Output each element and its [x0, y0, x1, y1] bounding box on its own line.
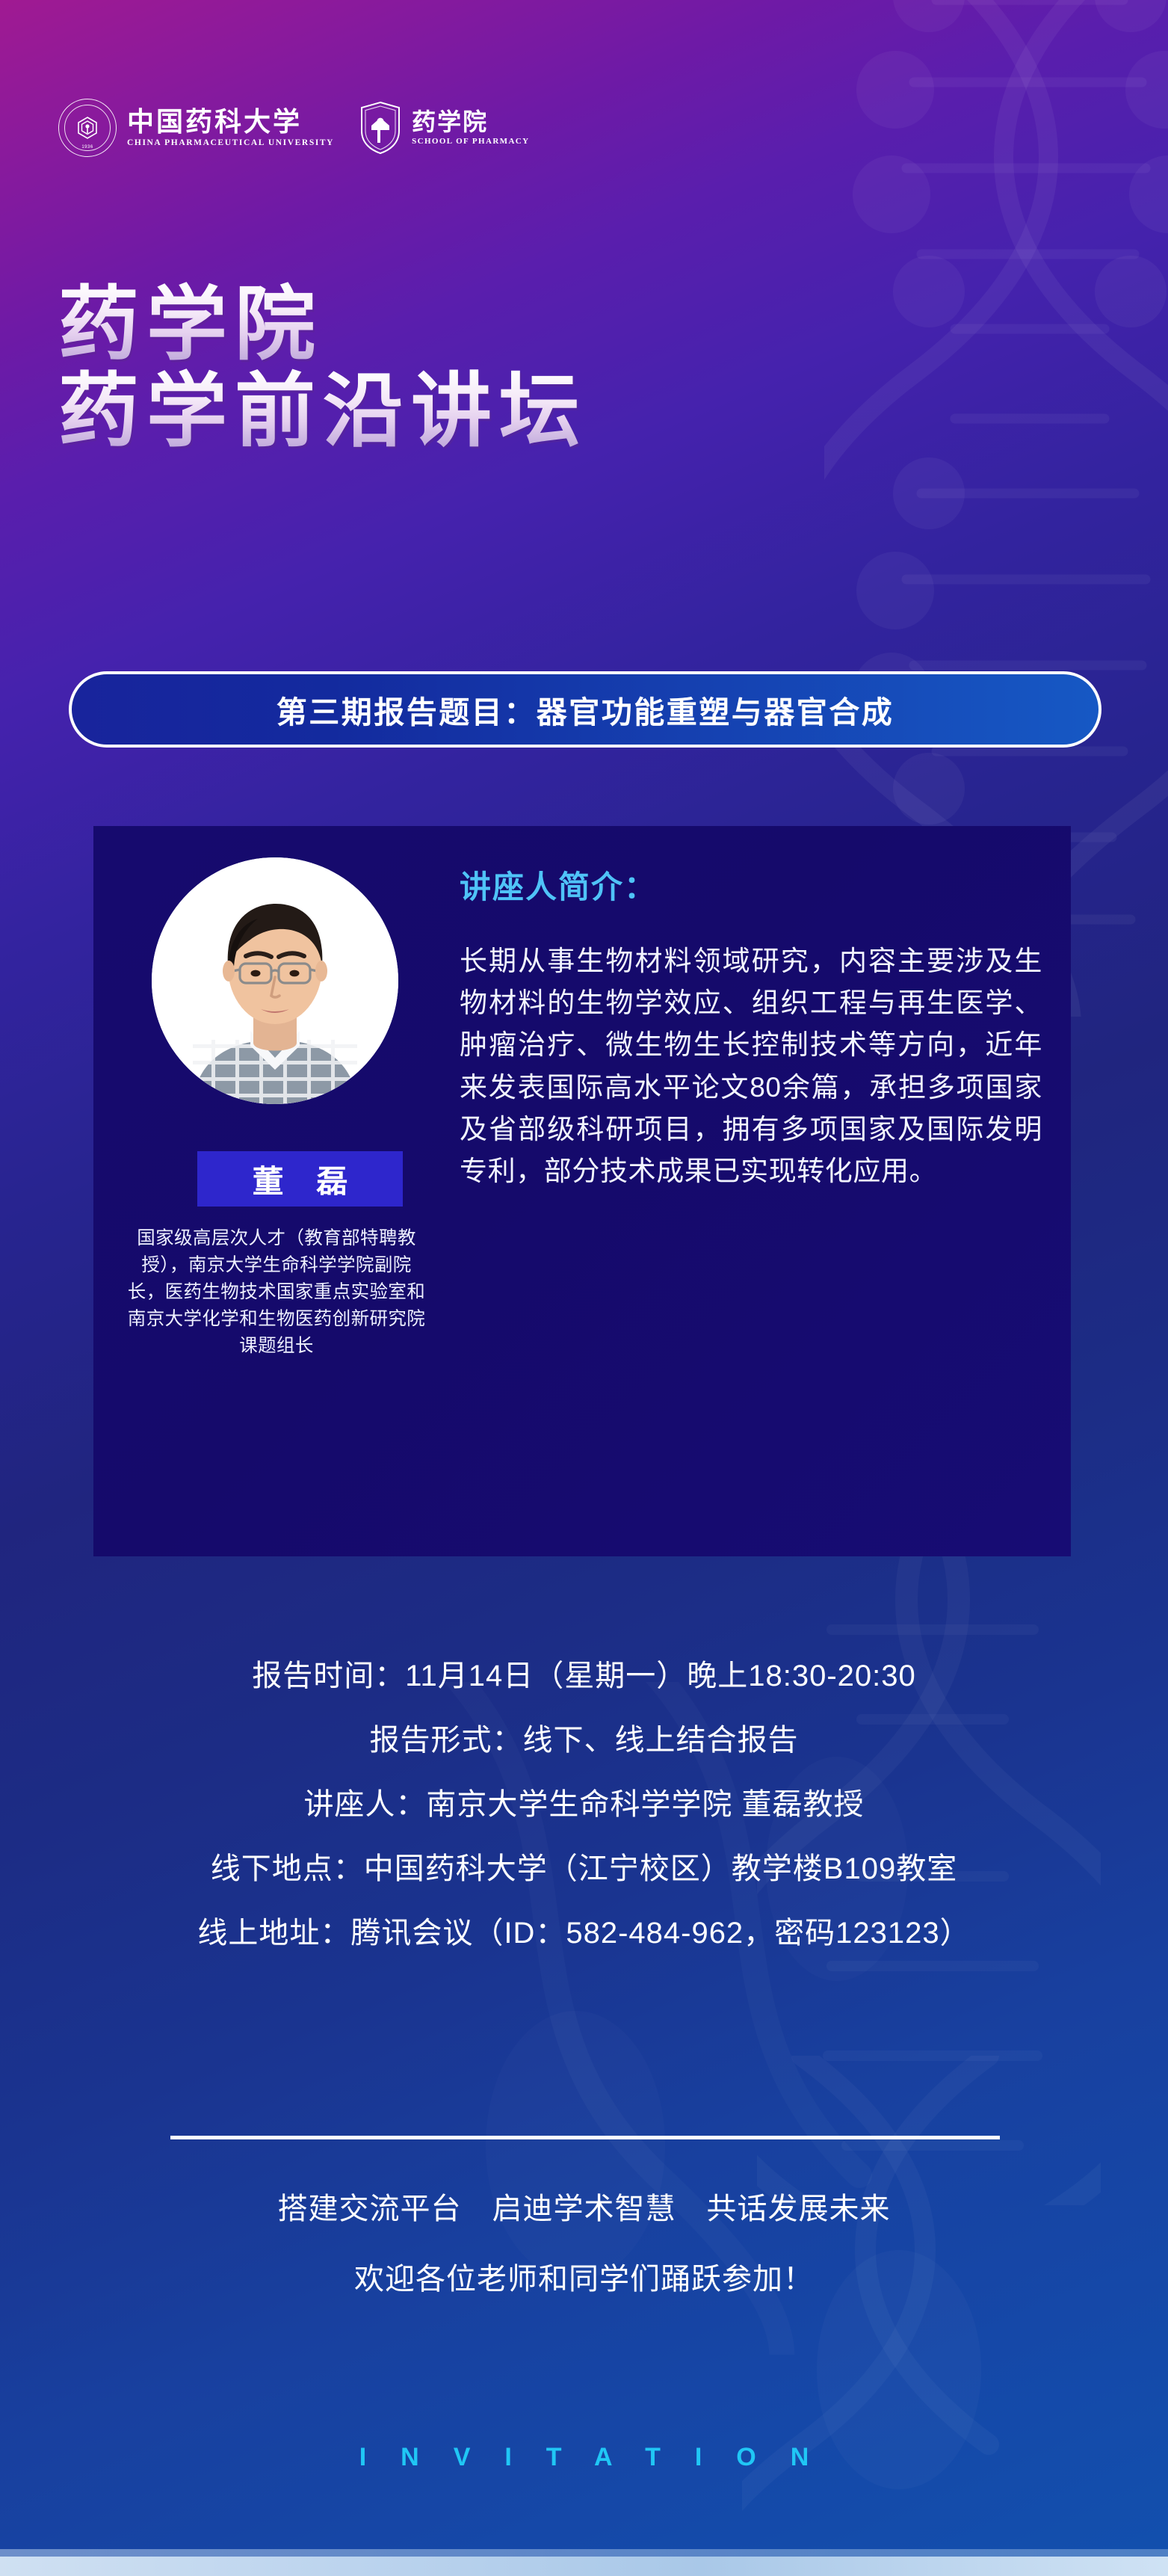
speaker-credentials: 国家级高层次人才（教育部特聘教授），南京大学生命科学学院副院长，医药生物技术国家… — [127, 1225, 426, 1360]
speaker-name: 董 磊 — [241, 1156, 360, 1202]
seal-year: 1936 — [81, 145, 93, 150]
detail-time: 报告时间：11月14日（星期一）晚上18:30-20:30 — [0, 1661, 1168, 1691]
speaker-name-banner: 董 磊 — [197, 1151, 403, 1207]
school-name-cn: 药学院 — [412, 110, 529, 134]
lecture-topic-banner: 第三期报告题目：器官功能重塑与器官合成 — [69, 671, 1101, 748]
school-name-en: SCHOOL OF PHARMACY — [412, 137, 529, 146]
university-logo: 1936 中国药科大学 CHINA PHARMACEUTICAL UNIVERS… — [58, 99, 334, 157]
title-line-1: 药学院 — [58, 281, 587, 368]
speaker-avatar — [152, 857, 398, 1104]
section-divider — [170, 2136, 1000, 2139]
title-line-2: 药学前沿讲坛 — [58, 368, 587, 455]
speaker-portrait-image — [152, 857, 398, 1104]
invitation-label: INVITATION — [0, 2443, 1168, 2472]
slogan-line-1: 搭建交流平台 启迪学术智慧 共话发展未来 — [0, 2194, 1168, 2224]
bottom-band — [0, 2557, 1168, 2576]
speaker-profile: 董 磊 国家级高层次人才（教育部特聘教授），南京大学生命科学学院副院长，医药生物… — [117, 857, 433, 1104]
bottom-band-soft — [0, 2549, 1168, 2557]
poster-root: 1936 中国药科大学 CHINA PHARMACEUTICAL UNIVERS… — [0, 0, 1168, 2576]
shield-emblem-icon — [359, 101, 401, 155]
speaker-card: 董 磊 国家级高层次人才（教育部特聘教授），南京大学生命科学学院副院长，医药生物… — [93, 826, 1071, 1556]
university-seal-icon: 1936 — [58, 99, 117, 157]
university-name-cn: 中国药科大学 — [127, 108, 334, 135]
slogan-line-2: 欢迎各位老师和同学们踊跃参加！ — [0, 2264, 1168, 2294]
dna-helix-icon-tertiary — [742, 2056, 1056, 2576]
speaker-bio-block: 讲座人简介： 长期从事生物材料领域研究，内容主要涉及生物材料的生物学效应、组织工… — [460, 862, 1042, 1192]
lecture-topic-text: 第三期报告题目：器官功能重塑与器官合成 — [276, 687, 894, 732]
detail-format: 报告形式：线下、线上结合报告 — [0, 1725, 1168, 1755]
bio-body: 长期从事生物材料领域研究，内容主要涉及生物材料的生物学效应、组织工程与再生医学、… — [460, 940, 1042, 1192]
university-name-en: CHINA PHARMACEUTICAL UNIVERSITY — [127, 138, 334, 147]
event-details: 报告时间：11月14日（星期一）晚上18:30-20:30 报告形式：线下、线上… — [0, 1661, 1168, 1948]
detail-presenter: 讲座人：南京大学生命科学学院 董磊教授 — [0, 1790, 1168, 1819]
detail-offline-venue: 线下地点：中国药科大学（江宁校区）教学楼B109教室 — [0, 1854, 1168, 1884]
header-logos: 1936 中国药科大学 CHINA PHARMACEUTICAL UNIVERS… — [58, 99, 529, 157]
slogan-block: 搭建交流平台 启迪学术智慧 共话发展未来 欢迎各位老师和同学们踊跃参加！ — [0, 2194, 1168, 2294]
university-wordmark: 中国药科大学 CHINA PHARMACEUTICAL UNIVERSITY — [127, 108, 334, 147]
seal-emblem-icon — [75, 115, 100, 141]
school-wordmark: 药学院 SCHOOL OF PHARMACY — [412, 110, 529, 146]
school-shield-icon — [359, 101, 401, 155]
school-logo: 药学院 SCHOOL OF PHARMACY — [359, 101, 529, 155]
detail-online-venue: 线上地址：腾讯会议（ID：582-484-962，密码123123） — [0, 1918, 1168, 1948]
bio-heading: 讲座人简介： — [460, 862, 1042, 908]
poster-title: 药学院 药学前沿讲坛 — [58, 281, 587, 454]
